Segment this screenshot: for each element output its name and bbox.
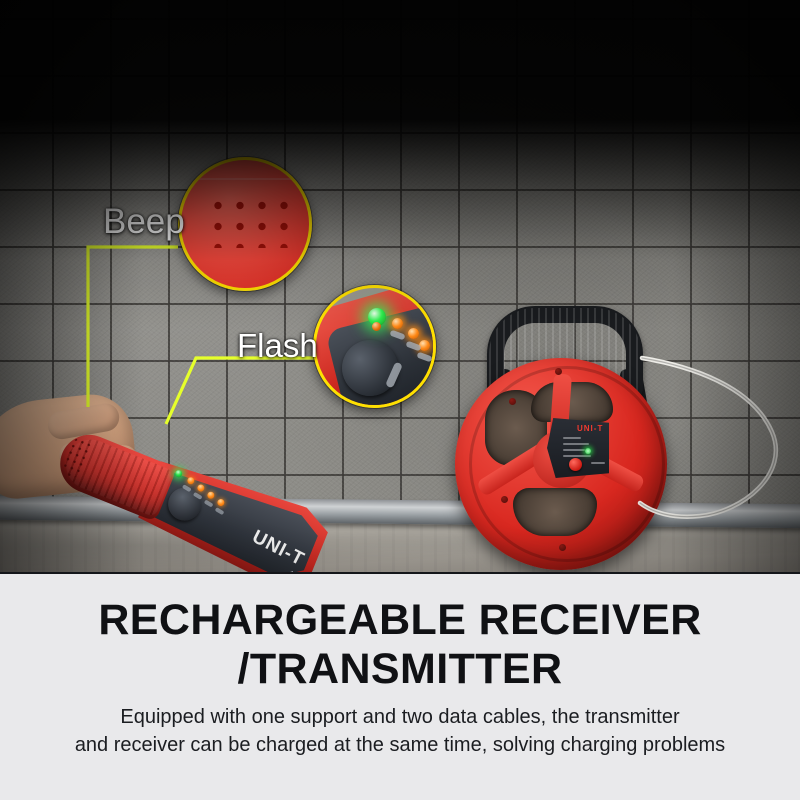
reel-screw [555,368,562,375]
headline: RECHARGEABLE RECEIVER /TRANSMITTER [0,596,800,694]
magnified-led-orange [408,328,419,339]
reel-power-button[interactable] [569,458,582,471]
magnified-led-orange [392,318,403,329]
flash-magnifier-circle [313,285,436,408]
reel-window-top [531,382,613,422]
speaker-grille-holes [203,190,289,248]
panel-text-line [563,437,581,439]
grille-seam-line [181,178,309,180]
reel-control-panel[interactable]: UNI-T [547,418,609,478]
beep-magnifier-circle [178,157,312,291]
magnified-led-orange [372,322,381,331]
caption-panel: RECHARGEABLE RECEIVER /TRANSMITTER [0,572,800,800]
panel-text-line [591,462,605,464]
marketing-banner: UNI-T [0,0,800,800]
panel-text-line [563,449,585,451]
reel-window-bottom [513,488,597,536]
headline-line-1: RECHARGEABLE RECEIVER [0,596,800,645]
callout-label-flash: Flash [237,327,318,365]
headline-line-2: /TRANSMITTER [0,645,800,694]
cable-reel-transmitter: UNI-T [455,306,675,566]
product-photo: UNI-T [0,0,800,572]
subtext-line-1: Equipped with one support and two data c… [0,706,800,729]
reel-screw [559,544,566,551]
subtext-line-2: and receiver can be charged at the same … [0,734,800,757]
panel-text-line [563,443,589,445]
reel-screw [501,496,508,503]
panel-text-line [563,455,591,457]
reel-status-led [585,448,591,454]
callout-label-beep: Beep [103,202,185,242]
reel-screw [509,398,516,405]
reel-brand-logo: UNI-T [577,424,603,433]
